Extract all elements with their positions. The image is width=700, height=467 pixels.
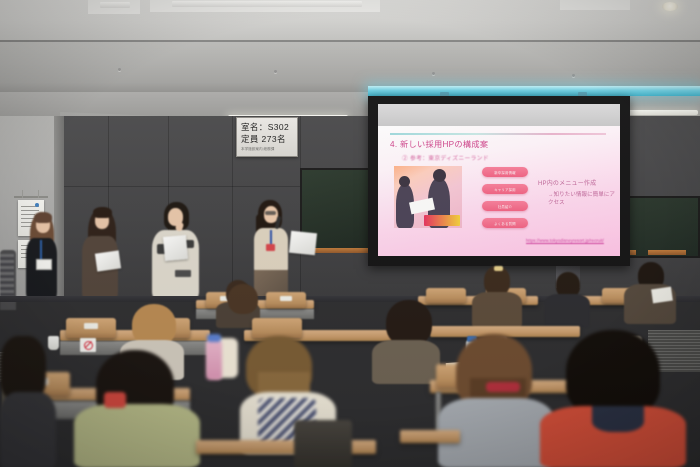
beam-bolt [274, 70, 277, 73]
seat-label [280, 296, 292, 301]
slide-menu-label: 新卒採用情報 [494, 170, 516, 175]
slide-photo-banner [424, 215, 460, 226]
ceiling-light-slot [100, 2, 130, 8]
room-number-sign: 室名：S302 定員 273名 本学施設案内 総務課 [236, 117, 298, 157]
seat [426, 288, 466, 303]
beam-bolt [118, 68, 121, 71]
screen-top-blank-area [378, 104, 620, 126]
slide-photo [394, 166, 462, 228]
handout-paper [651, 287, 673, 304]
slide-menu-button-1: 新卒採用情報 [482, 167, 528, 177]
slide-menu-label: キャリア採用 [494, 187, 516, 192]
name-badge [36, 259, 52, 270]
room-name-line: 室名：S302 [241, 122, 293, 133]
glasses-icon [265, 211, 276, 215]
linear-light-fixture [620, 110, 698, 115]
script-papers [163, 235, 188, 261]
scarf [486, 382, 520, 392]
backpack [294, 420, 352, 467]
lanyard-tag [266, 244, 275, 251]
beam-bolt [432, 72, 435, 75]
downlight-icon [662, 2, 678, 11]
slide-menu-button-3: 社員紹介 [482, 201, 528, 211]
slide-subtitle: ② 参考：東京ディズニーランド [402, 153, 489, 162]
desk [400, 430, 460, 443]
slide-menu-button-2: キャリア採用 [482, 184, 528, 194]
slide-menu-label: よくある質問 [494, 221, 516, 226]
slide-menu-button-4: よくある質問 [482, 218, 528, 228]
beam-bolt [572, 74, 575, 77]
seat [252, 318, 302, 338]
room-capacity-line: 定員 273名 [241, 134, 293, 145]
wall-seam [64, 186, 300, 187]
projection-screen: 4. 新しい採用HPの構成案 ② 参考：東京ディズニーランド 新卒採用情報 キャ… [378, 104, 620, 256]
chalk-tray [648, 250, 686, 255]
room-sign-fine-print: 本学施設案内 総務課 [241, 147, 293, 152]
wall-seam [232, 116, 233, 296]
slide-body-line-2: →知りたい情報に簡単にアクセス [548, 190, 620, 206]
headphone [104, 392, 126, 408]
script-papers [289, 231, 317, 256]
slide-menu-label: 社員紹介 [498, 204, 512, 209]
poster-clip [22, 190, 23, 198]
hair-clip [494, 266, 503, 271]
presentation-slide: 4. 新しい採用HPの構成案 ② 参考：東京ディズニーランド 新卒採用情報 キャ… [378, 126, 620, 256]
cyan-led-cove-light [368, 86, 700, 96]
ceiling-light-slot [172, 1, 362, 7]
poster-rail [14, 196, 48, 198]
slide-source-link: https://www.tokyodisneyresort.jp/recruit… [526, 238, 604, 243]
seat-label [84, 323, 98, 329]
slide-body-line-1: HP内のメニュー作成 [538, 178, 596, 187]
slide-title: 4. 新しい採用HPの構成案 [390, 138, 488, 150]
paper-cup [48, 336, 59, 350]
script-papers [95, 250, 121, 271]
poster-clip [38, 190, 39, 198]
no-smoking-sticker [80, 338, 96, 352]
ceiling-panel [560, 0, 630, 10]
lecture-hall-presentation-photo: 室名：S302 定員 273名 本学施設案内 総務課 4. 新しい採用HPの構成… [0, 0, 700, 467]
slide-divider [390, 133, 606, 135]
collar [592, 406, 644, 432]
